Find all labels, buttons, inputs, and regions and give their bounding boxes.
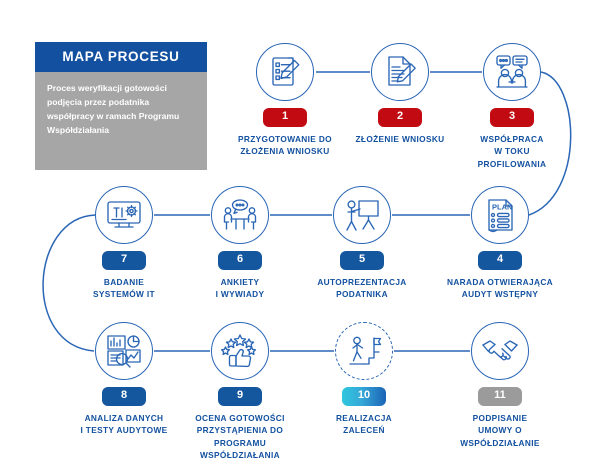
step-3-label: WSPÓŁPRACA W TOKU PROFILOWANIA xyxy=(437,133,587,170)
step-5-badge: 5 xyxy=(340,251,384,270)
step-8-badge: 8 xyxy=(102,387,146,406)
checklist-pen-icon xyxy=(265,53,305,91)
plan-document-icon xyxy=(480,196,520,234)
step-11-badge: 11 xyxy=(478,387,522,406)
step-10-label: REALIZACJA ZALECEŃ xyxy=(289,412,439,437)
handshake-icon xyxy=(480,332,520,370)
step-4-circle xyxy=(471,186,529,244)
step-3[interactable]: 3WSPÓŁPRACA W TOKU PROFILOWANIA xyxy=(437,43,587,170)
step-10[interactable]: 10REALIZACJA ZALECEŃ xyxy=(289,322,439,437)
two-people-chat-icon xyxy=(492,53,532,91)
step-9-badge: 9 xyxy=(218,387,262,406)
step-3-circle xyxy=(483,43,541,101)
step-10-badge: 10 xyxy=(342,387,386,406)
step-7-circle xyxy=(95,186,153,244)
step-7-label: BADANIE SYSTEMÓW IT xyxy=(49,276,199,301)
step-4[interactable]: 4NARADA OTWIERAJĄCA AUDYT WSTĘPNY xyxy=(425,186,575,301)
interview-table-icon xyxy=(220,196,260,234)
step-1-badge: 1 xyxy=(263,108,307,127)
legend-description: Proces weryfikacji gotowości podjęcia pr… xyxy=(35,72,207,170)
step-2-badge: 2 xyxy=(378,108,422,127)
step-1-circle xyxy=(256,43,314,101)
step-5-circle xyxy=(333,186,391,244)
step-7-badge: 7 xyxy=(102,251,146,270)
monitor-it-gear-icon xyxy=(104,196,144,234)
step-7[interactable]: 7BADANIE SYSTEMÓW IT xyxy=(49,186,199,301)
data-analysis-icon xyxy=(104,332,144,370)
step-3-badge: 3 xyxy=(490,108,534,127)
step-6-badge: 6 xyxy=(218,251,262,270)
step-8-circle xyxy=(95,322,153,380)
step-2-circle xyxy=(371,43,429,101)
step-11-label: PODPISANIE UMOWY O WSPÓŁDZIAŁANIE xyxy=(425,412,575,449)
step-11[interactable]: 11PODPISANIE UMOWY O WSPÓŁDZIAŁANIE xyxy=(425,322,575,449)
step-9-circle xyxy=(211,322,269,380)
thumbs-up-stars-icon xyxy=(220,332,260,370)
legend-card: MAPA PROCESU Proces weryfikacji gotowośc… xyxy=(35,42,207,170)
legend-title: MAPA PROCESU xyxy=(35,42,207,72)
step-4-badge: 4 xyxy=(478,251,522,270)
step-4-label: NARADA OTWIERAJĄCA AUDYT WSTĘPNY xyxy=(425,276,575,301)
step-11-circle xyxy=(471,322,529,380)
process-map-diagram: MAPA PROCESU Proces weryfikacji gotowośc… xyxy=(0,0,605,468)
step-10-circle xyxy=(335,322,393,380)
document-pen-icon xyxy=(380,53,420,91)
step-6-circle xyxy=(211,186,269,244)
presenter-board-icon xyxy=(342,196,382,234)
stairs-flag-icon xyxy=(344,332,384,370)
